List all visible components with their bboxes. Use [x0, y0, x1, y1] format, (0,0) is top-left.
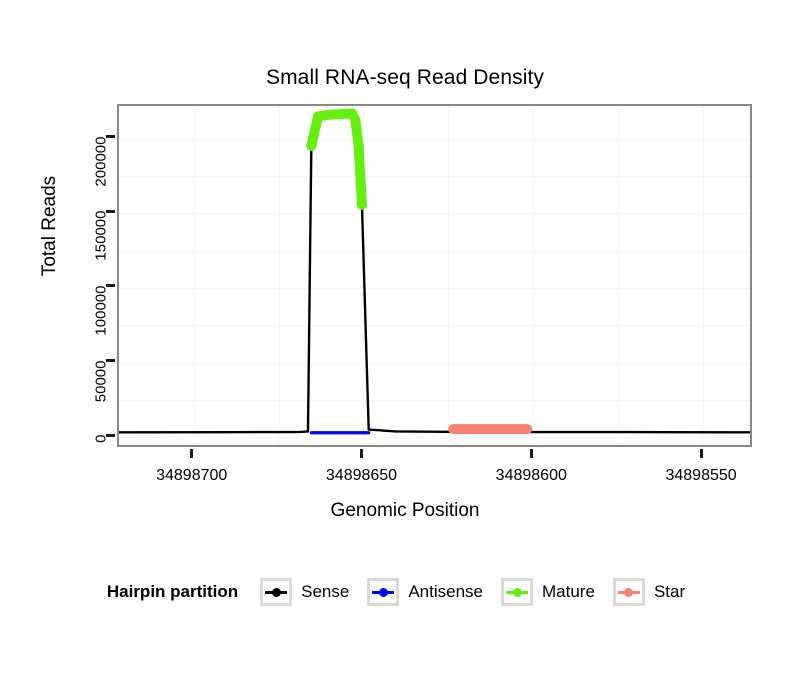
legend-item-mature[interactable]: Mature [501, 578, 609, 606]
legend-label: Mature [542, 582, 595, 602]
x-tick-label: 34898700 [156, 467, 227, 485]
legend-label: Antisense [408, 582, 483, 602]
series-line-mature [311, 113, 362, 204]
y-axis-title: Total Reads [39, 116, 61, 336]
legend-key-dot [272, 588, 281, 597]
legend-key-dot [624, 588, 633, 597]
line-dot-icon [367, 578, 399, 606]
legend-label: Star [654, 582, 685, 602]
x-tick-mark [360, 449, 363, 458]
y-tick-label: 200000 [93, 136, 110, 237]
x-tick-label: 34898650 [326, 467, 397, 485]
line-dot-icon [613, 578, 645, 606]
legend: Hairpin partition SenseAntisenseMatureSt… [0, 578, 810, 606]
data-point-mature [357, 200, 367, 210]
series-line-sense [119, 113, 750, 432]
series-plot-area [119, 106, 750, 445]
legend-item-antisense[interactable]: Antisense [367, 578, 497, 606]
data-point-mature [353, 141, 363, 151]
x-tick-mark [700, 449, 703, 458]
chart-figure: Small RNA-seq Read Density Total Reads G… [0, 0, 810, 690]
legend-key-dot [513, 588, 522, 597]
plot-panel [117, 104, 752, 447]
legend-title: Hairpin partition [107, 582, 238, 602]
data-point-mature [306, 141, 316, 151]
chart-title: Small RNA-seq Read Density [0, 66, 810, 90]
x-tick-label: 34898550 [665, 467, 736, 485]
legend-key-dot [379, 588, 388, 597]
line-dot-icon [501, 578, 533, 606]
x-axis-title: Genomic Position [0, 500, 810, 522]
x-tick-mark [190, 449, 193, 458]
legend-item-star[interactable]: Star [613, 578, 699, 606]
line-dot-icon [260, 578, 292, 606]
legend-label: Sense [301, 582, 349, 602]
legend-item-sense[interactable]: Sense [260, 578, 363, 606]
x-tick-label: 34898600 [496, 467, 567, 485]
x-tick-mark [530, 449, 533, 458]
